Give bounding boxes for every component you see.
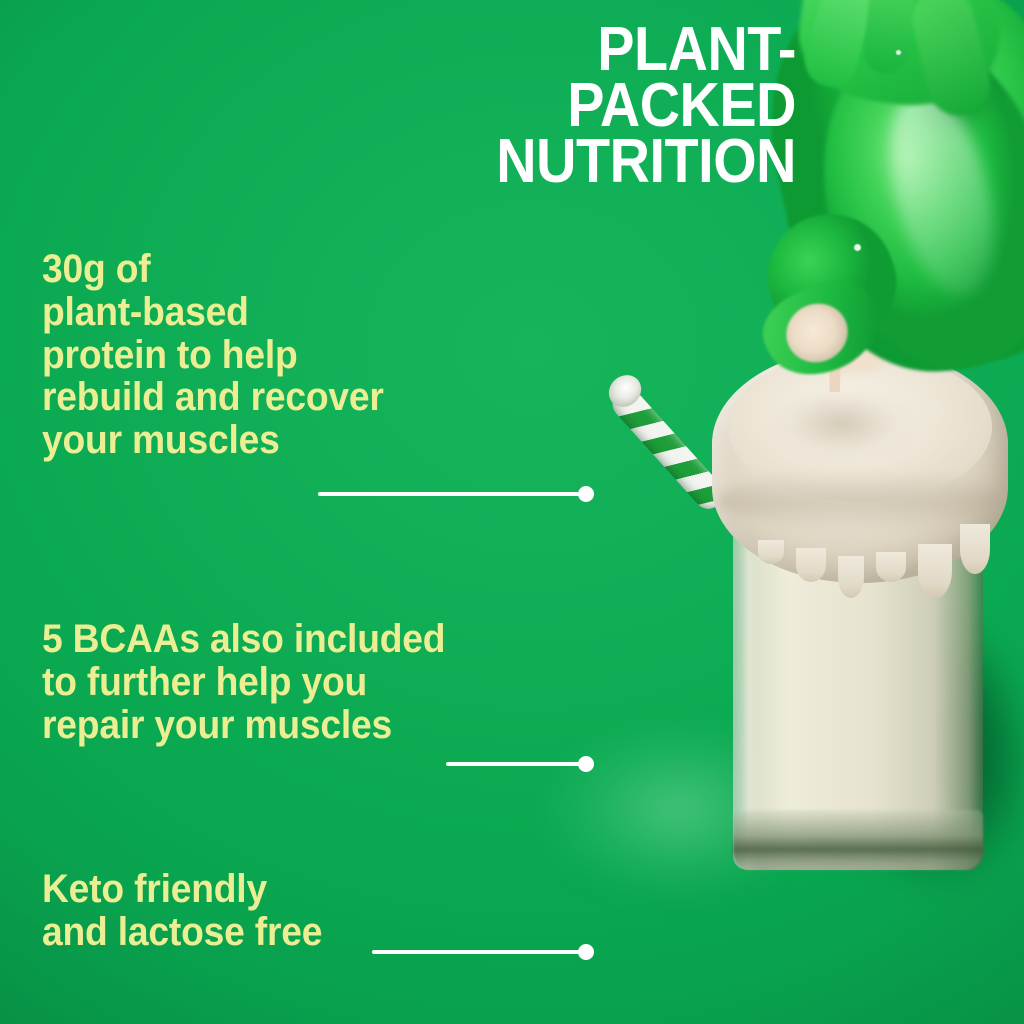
feature-line: rebuild and recover xyxy=(42,376,384,419)
feature-line: to further help you xyxy=(42,661,445,704)
feature-line: Keto friendly xyxy=(42,868,322,911)
page-title: PLANT- PACKED NUTRITION xyxy=(202,22,796,189)
leader-dot-keto xyxy=(578,944,594,960)
leader-line-keto xyxy=(372,950,580,954)
feature-line: 5 BCAAs also included xyxy=(42,618,445,661)
feature-protein: 30g of plant-based protein to help rebui… xyxy=(42,248,409,462)
feature-keto: Keto friendly and lactose free xyxy=(42,868,343,954)
headline-line-2: PACKED xyxy=(202,78,796,134)
feature-line: repair your muscles xyxy=(42,704,445,747)
leader-line-bcaa xyxy=(446,762,580,766)
feature-line: your muscles xyxy=(42,419,384,462)
leader-line-protein xyxy=(318,492,580,496)
promo-graphic: PLANT- PACKED NUTRITION 30g of plant-bas… xyxy=(0,0,1024,1024)
feature-line: plant-based xyxy=(42,291,384,334)
leader-dot-protein xyxy=(578,486,594,502)
feature-line: and lactose free xyxy=(42,911,322,954)
feature-line: 30g of xyxy=(42,248,384,291)
leader-dot-bcaa xyxy=(578,756,594,772)
feature-line: protein to help xyxy=(42,334,384,377)
headline-line-3: NUTRITION xyxy=(202,134,796,190)
feature-bcaa: 5 BCAAs also included to further help yo… xyxy=(42,618,476,746)
headline-line-1: PLANT- xyxy=(202,22,796,78)
